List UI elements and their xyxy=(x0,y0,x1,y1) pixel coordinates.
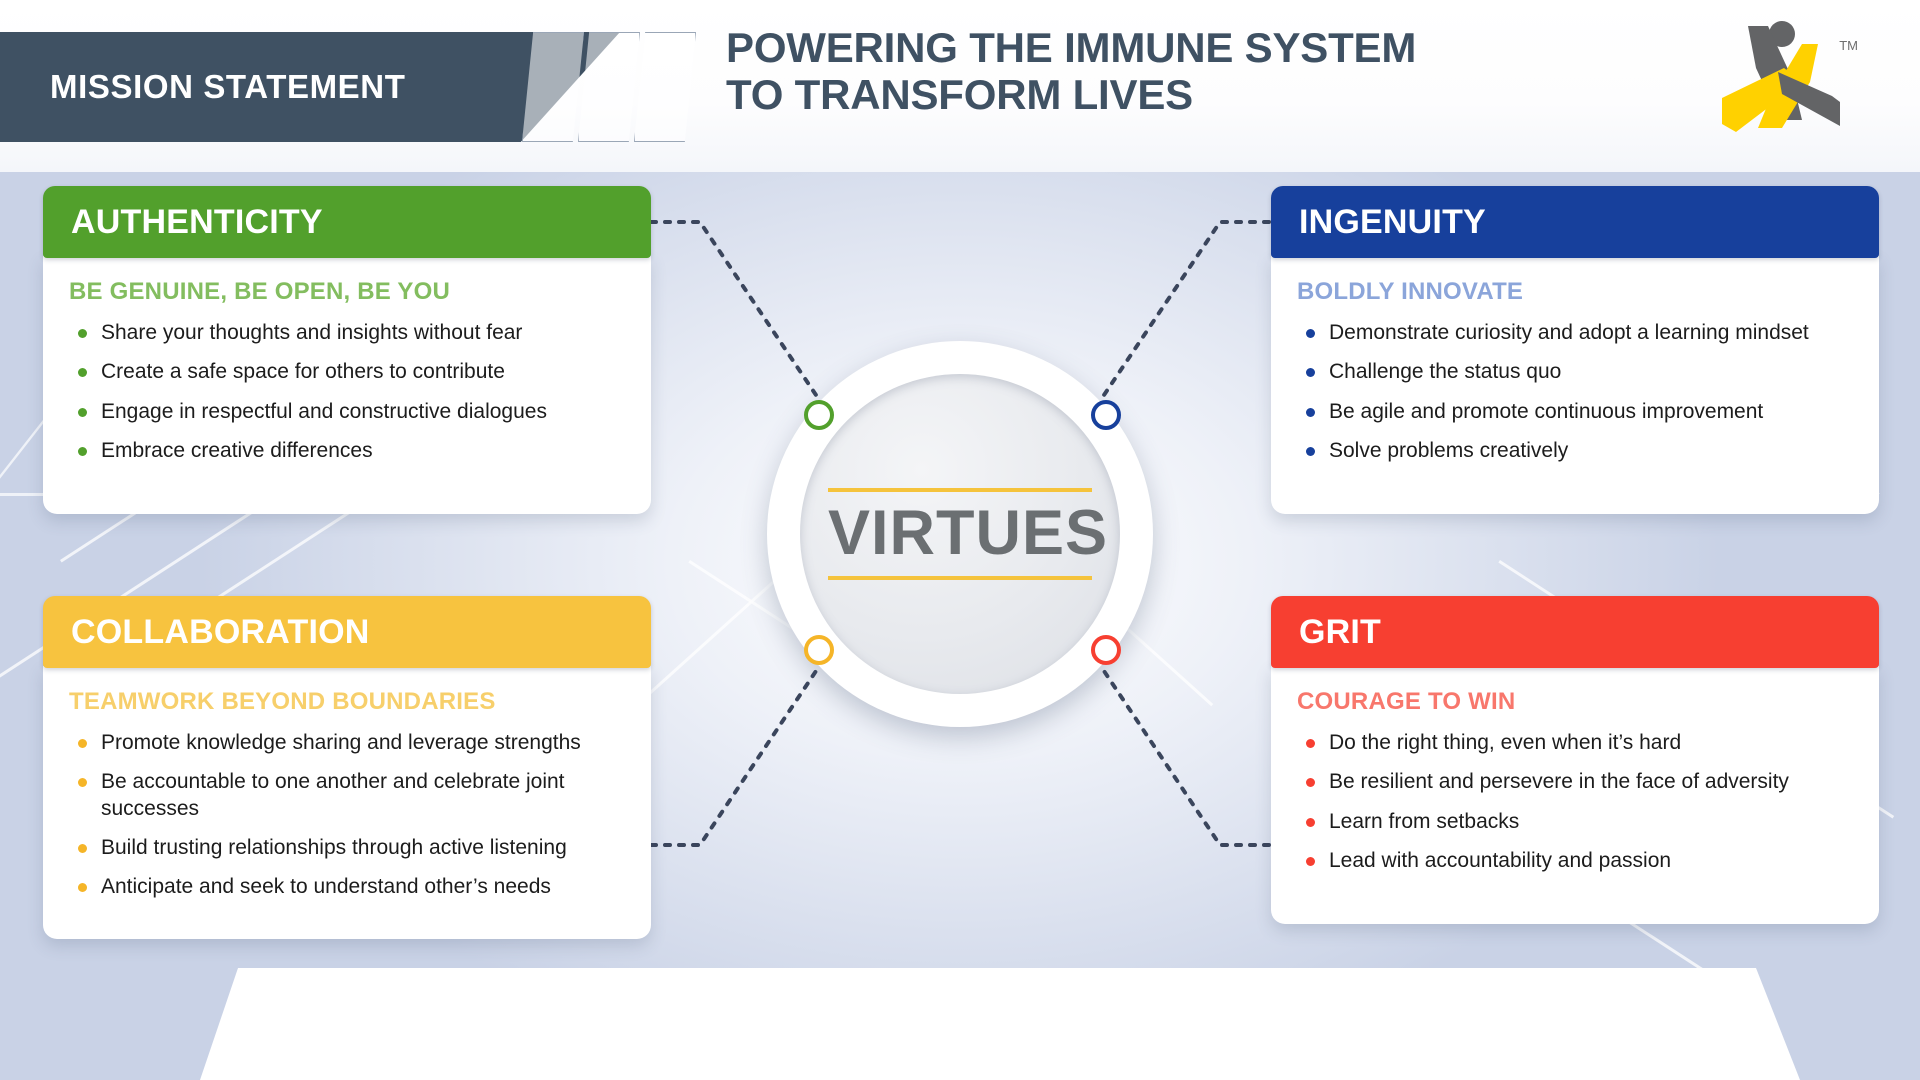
kite-figure-logo: TM xyxy=(1706,16,1856,138)
card-body-authenticity: BE GENUINE, BE OPEN, BE YOU Share your t… xyxy=(43,256,651,514)
connector-authenticity xyxy=(651,222,818,398)
list-item: Engage in respectful and constructive di… xyxy=(69,399,625,425)
logo-mark-icon xyxy=(1706,16,1856,138)
card-title: COLLABORATION xyxy=(71,613,370,652)
card-bullet-list: Share your thoughts and insights without… xyxy=(69,320,625,464)
card-bullet-list: Demonstrate curiosity and adopt a learni… xyxy=(1297,320,1853,464)
list-item: Create a safe space for others to contri… xyxy=(69,359,625,385)
card-body-collaboration: TEAMWORK BEYOND BOUNDARIES Promote knowl… xyxy=(43,666,651,939)
card-header-collaboration: COLLABORATION xyxy=(43,596,651,668)
connector-node-collaboration xyxy=(804,635,834,665)
connector-collaboration xyxy=(651,668,818,845)
value-card-collaboration[interactable]: COLLABORATION TEAMWORK BEYOND BOUNDARIES… xyxy=(43,596,651,939)
list-item: Be accountable to one another and celebr… xyxy=(69,769,625,822)
footer-banner xyxy=(0,968,1920,1080)
title-line-1: POWERING THE IMMUNE SYSTEM xyxy=(726,24,1626,71)
list-item: Do the right thing, even when it’s hard xyxy=(1297,730,1853,756)
list-item: Build trusting relationships through act… xyxy=(69,835,625,861)
list-item: Share your thoughts and insights without… xyxy=(69,320,625,346)
card-header-ingenuity: INGENUITY xyxy=(1271,186,1879,258)
list-item: Lead with accountability and passion xyxy=(1297,848,1853,874)
connector-node-grit xyxy=(1091,635,1121,665)
connector-grit xyxy=(1102,668,1269,845)
card-title: INGENUITY xyxy=(1299,203,1486,242)
card-subtitle: BOLDLY INNOVATE xyxy=(1297,278,1853,306)
card-subtitle: TEAMWORK BEYOND BOUNDARIES xyxy=(69,688,625,716)
list-item: Be agile and promote continuous improvem… xyxy=(1297,399,1853,425)
card-header-authenticity: AUTHENTICITY xyxy=(43,186,651,258)
list-item: Promote knowledge sharing and leverage s… xyxy=(69,730,625,756)
virtues-label: VIRTUES xyxy=(828,488,1092,580)
connector-node-authenticity xyxy=(804,400,834,430)
list-item: Solve problems creatively xyxy=(1297,438,1853,464)
card-header-grit: GRIT xyxy=(1271,596,1879,668)
card-title: AUTHENTICITY xyxy=(71,203,323,242)
value-card-ingenuity[interactable]: INGENUITY BOLDLY INNOVATE Demonstrate cu… xyxy=(1271,186,1879,514)
trademark-symbol: TM xyxy=(1839,38,1858,53)
card-bullet-list: Promote knowledge sharing and leverage s… xyxy=(69,730,625,900)
value-card-grit[interactable]: GRIT COURAGE TO WIN Do the right thing, … xyxy=(1271,596,1879,924)
mission-statement-label: MISSION STATEMENT xyxy=(50,68,405,106)
card-title: GRIT xyxy=(1299,613,1381,652)
value-card-authenticity[interactable]: AUTHENTICITY BE GENUINE, BE OPEN, BE YOU… xyxy=(43,186,651,514)
card-subtitle: BE GENUINE, BE OPEN, BE YOU xyxy=(69,278,625,306)
title-line-2: TO TRANSFORM LIVES xyxy=(726,71,1626,118)
card-subtitle: COURAGE TO WIN xyxy=(1297,688,1853,716)
infographic-stage: MISSION STATEMENT POWERING THE IMMUNE SY… xyxy=(0,0,1920,1080)
card-body-ingenuity: BOLDLY INNOVATE Demonstrate curiosity an… xyxy=(1271,256,1879,514)
header-bar: MISSION STATEMENT POWERING THE IMMUNE SY… xyxy=(0,0,1920,172)
page-title: POWERING THE IMMUNE SYSTEM TO TRANSFORM … xyxy=(726,24,1626,118)
chevron-shape-3 xyxy=(634,32,696,142)
card-bullet-list: Do the right thing, even when it’s hard … xyxy=(1297,730,1853,874)
connector-node-ingenuity xyxy=(1091,400,1121,430)
list-item: Be resilient and persevere in the face o… xyxy=(1297,769,1853,795)
list-item: Challenge the status quo xyxy=(1297,359,1853,385)
list-item: Learn from setbacks xyxy=(1297,809,1853,835)
connector-ingenuity xyxy=(1102,222,1269,398)
virtues-inner-disc: VIRTUES xyxy=(800,374,1120,694)
card-body-grit: COURAGE TO WIN Do the right thing, even … xyxy=(1271,666,1879,924)
virtues-center-circle: VIRTUES xyxy=(767,341,1153,727)
list-item: Anticipate and seek to understand other’… xyxy=(69,874,625,900)
list-item: Embrace creative differences xyxy=(69,438,625,464)
list-item: Demonstrate curiosity and adopt a learni… xyxy=(1297,320,1853,346)
